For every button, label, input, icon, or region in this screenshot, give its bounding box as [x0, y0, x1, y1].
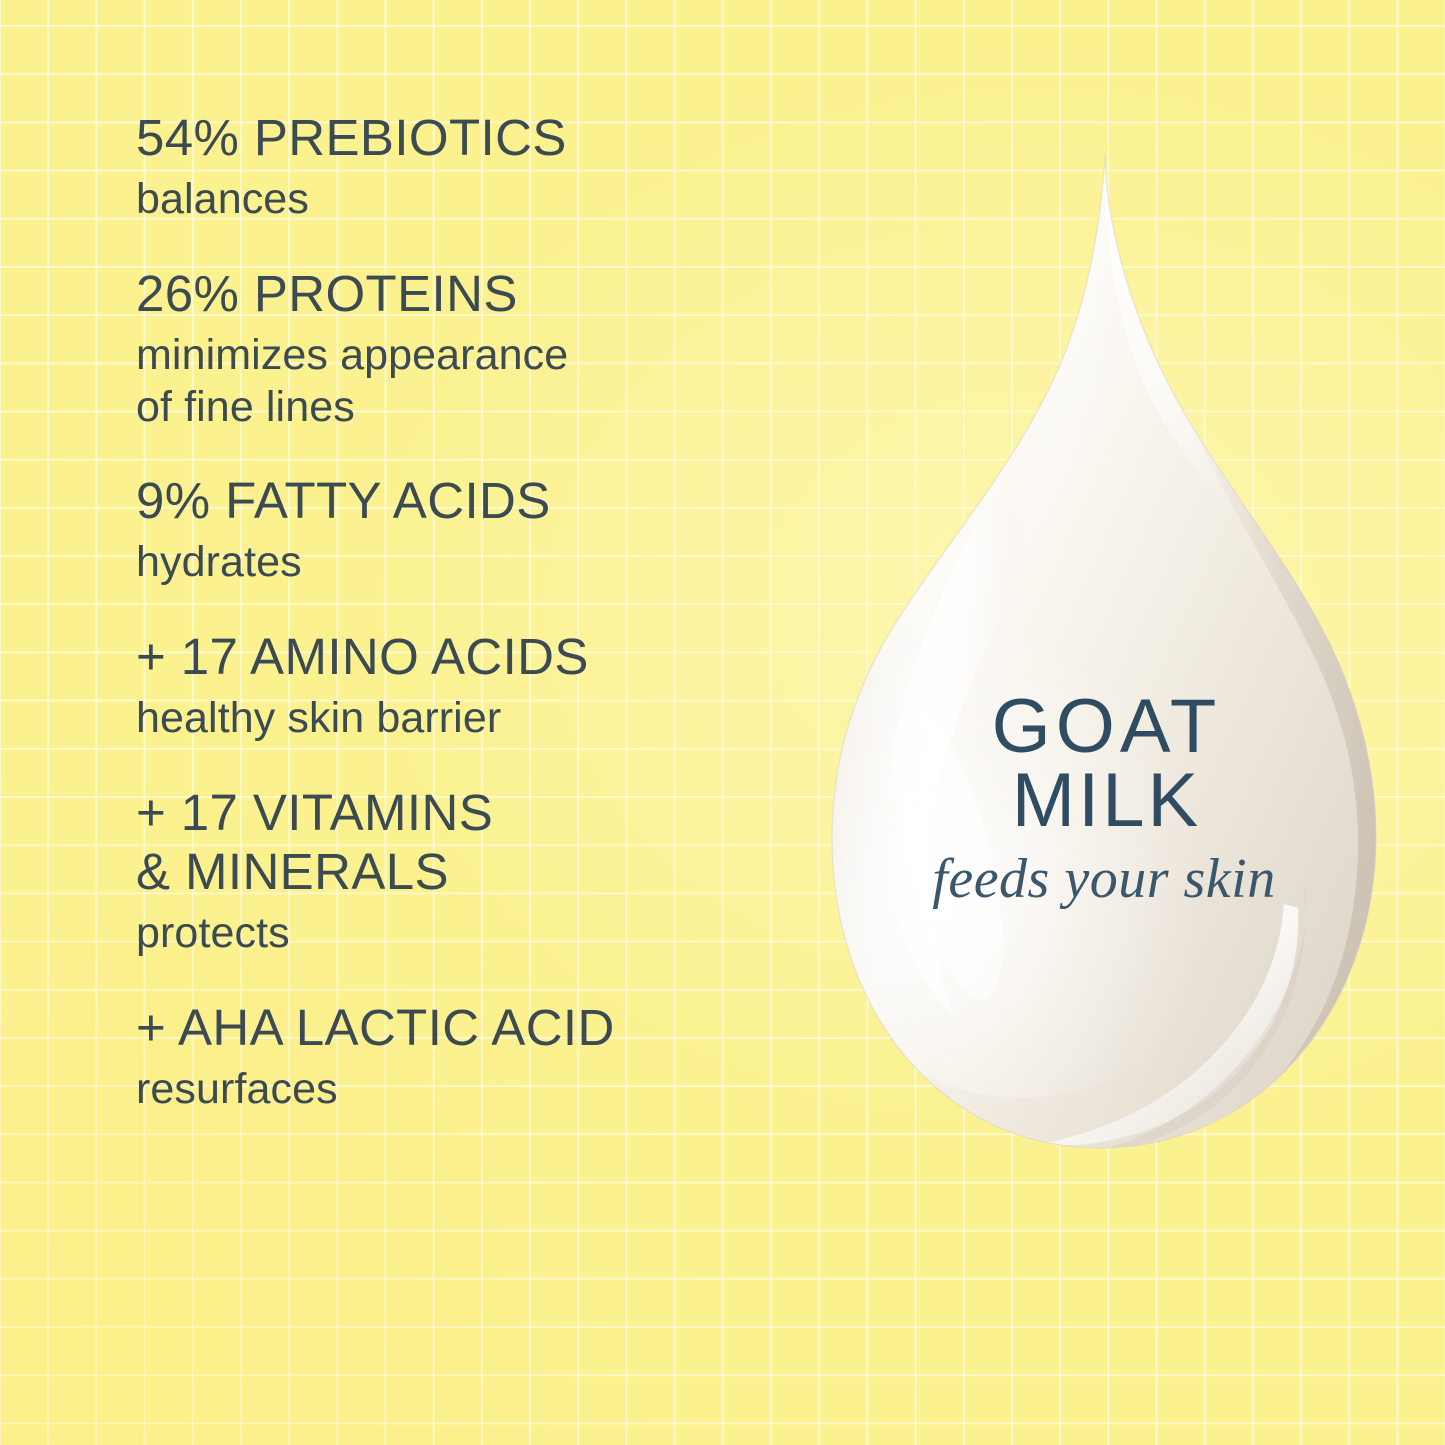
- fact-headline: + 17 AMINO ACIDS: [136, 627, 816, 686]
- fact-headline: 26% PROTEINS: [136, 264, 816, 323]
- milk-droplet-illustration: [828, 148, 1380, 1160]
- fact-headline: 9% FATTY ACIDS: [136, 471, 816, 530]
- fact-item: + 17 VITAMINS & MINERALS protects: [136, 783, 816, 960]
- fact-benefit: healthy skin barrier: [136, 693, 816, 745]
- fact-benefit: balances: [136, 174, 816, 226]
- fact-item: + AHA LACTIC ACID resurfaces: [136, 998, 816, 1116]
- fact-item: + 17 AMINO ACIDS healthy skin barrier: [136, 627, 816, 745]
- fact-benefit: resurfaces: [136, 1064, 816, 1116]
- fact-item: 26% PROTEINS minimizes appearance of fin…: [136, 264, 816, 433]
- fact-headline: + AHA LACTIC ACID: [136, 998, 816, 1057]
- milk-droplet-icon: [828, 148, 1380, 1160]
- fact-headline: 54% PREBIOTICS: [136, 108, 816, 167]
- fact-item: 9% FATTY ACIDS hydrates: [136, 471, 816, 589]
- fact-benefit: hydrates: [136, 537, 816, 589]
- product-ingredient-infographic: 54% PREBIOTICS balances 26% PROTEINS min…: [0, 0, 1445, 1445]
- fact-benefit: minimizes appearance of fine lines: [136, 330, 816, 433]
- fact-headline: + 17 VITAMINS & MINERALS: [136, 783, 816, 901]
- fact-item: 54% PREBIOTICS balances: [136, 108, 816, 226]
- fact-benefit: protects: [136, 908, 816, 960]
- ingredient-facts-list: 54% PREBIOTICS balances 26% PROTEINS min…: [136, 108, 816, 1115]
